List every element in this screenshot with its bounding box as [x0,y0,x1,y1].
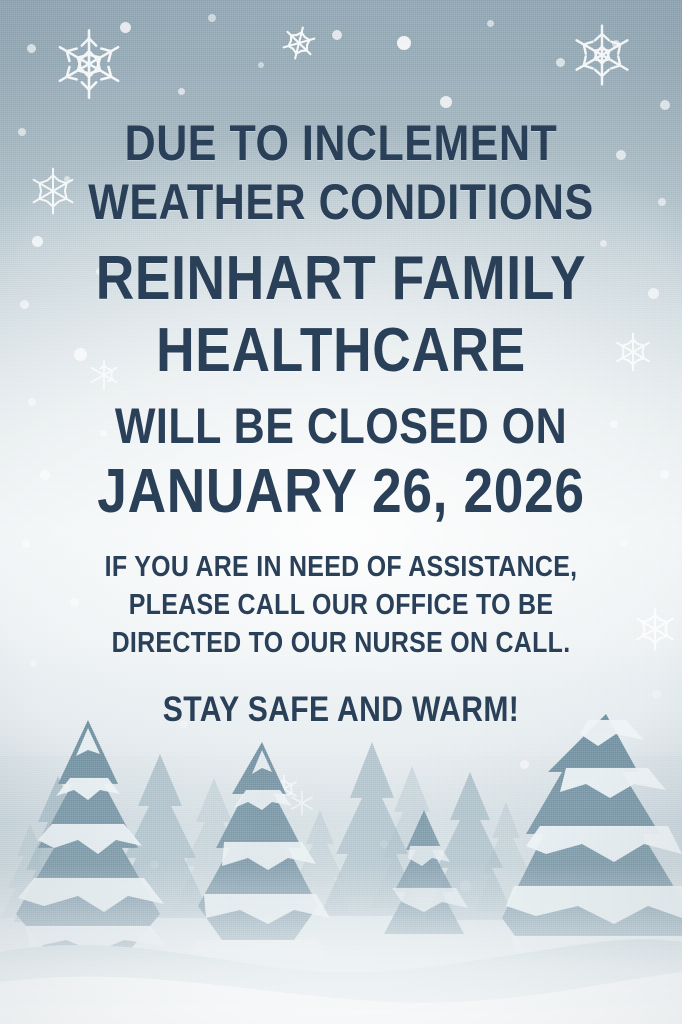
winter-closure-poster: DUE TO INCLEMENT WEATHER CONDITIONS REIN… [0,0,682,1024]
pine-tree-icon [188,742,330,958]
snowflake-icon [265,770,303,808]
snowflake-icon [274,18,325,69]
announcement-copy: DUE TO INCLEMENT WEATHER CONDITIONS REIN… [0,118,682,727]
snow-particle [178,88,185,95]
snow-particle [660,100,670,110]
snow-particle [520,760,529,769]
pine-tree-icon [384,810,468,934]
closure-status-line: WILL BE CLOSED ON [48,401,635,451]
snow-drift [0,1000,682,1024]
snow-particle [612,40,620,48]
snow-particle [440,96,452,108]
pine-tree-icon [4,720,172,970]
snowflake-icon [285,786,319,820]
snow-particle [560,930,568,938]
snowflake-icon [49,24,129,104]
pine-tree-icon [14,742,516,922]
headline-line-2: WEATHER CONDITIONS [48,177,635,227]
snowflake-icon [567,20,637,90]
snow-particle [332,30,342,40]
snow-particle [208,14,216,22]
instructions-line-1: IF YOU ARE IN NEED OF ASSISTANCE, [48,553,635,582]
instructions-line-3: DIRECTED TO OUR NURSE ON CALL. [48,629,635,658]
snow-particle [460,880,471,891]
pine-tree-icon [0,766,645,918]
signoff-message: STAY SAFE AND WARM! [48,692,635,727]
snow-particle [120,22,131,33]
snow-particle [380,840,388,848]
headline-line-1: DUE TO INCLEMENT [48,118,635,168]
snow-particle [250,790,260,800]
organization-line-2: HEALTHCARE [48,320,635,382]
pine-tree-icon [486,714,682,982]
snow-particle [150,860,159,869]
winter-forest-scene [0,714,682,1024]
organization-line-1: REINHART FAMILY [48,248,635,310]
snow-particle [300,900,307,907]
snow-particle [487,20,494,27]
snow-particle [258,62,264,68]
snow-particle [556,58,565,67]
snow-particle [397,36,411,50]
snow-drift [0,972,682,1024]
snow-particle [27,44,36,53]
snowflake-icon [570,782,614,826]
closure-date: JANUARY 26, 2026 [48,461,635,523]
instructions-line-2: PLEASE CALL OUR OFFICE TO BE [48,591,635,620]
snow-ground [0,939,682,1024]
